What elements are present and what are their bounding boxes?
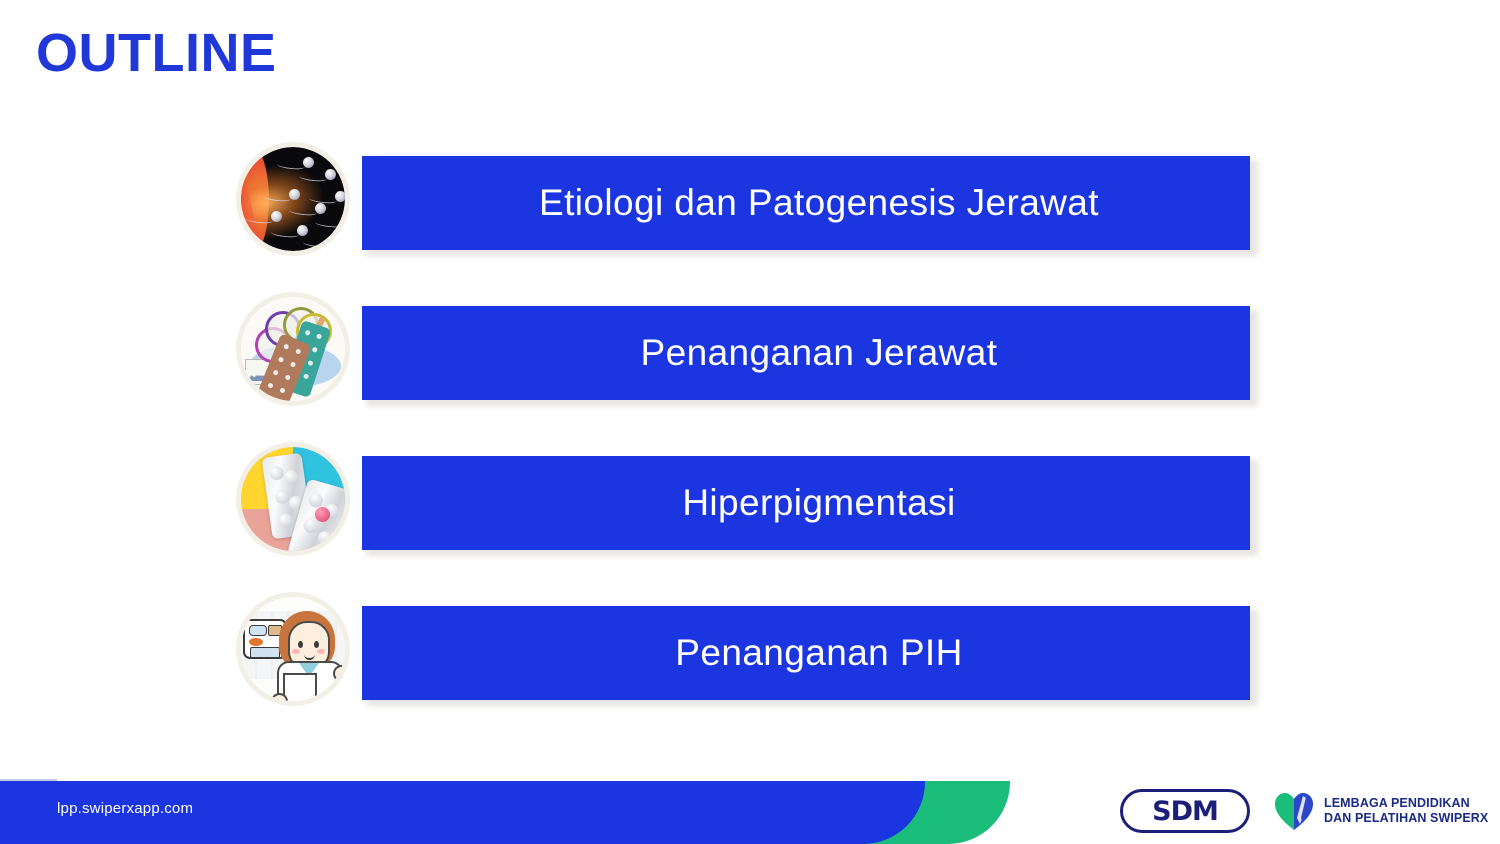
swiperx-line-1: LEMBAGA PENDIDIKAN	[1324, 796, 1470, 810]
pharmacist-cartoon-icon	[236, 592, 350, 706]
sdm-logo-text: SDM	[1152, 796, 1218, 827]
swiperx-logo: LEMBAGA PENDIDIKAN DAN PELATIHAN SWIPERX	[1273, 787, 1488, 835]
outline-bar-label: Penanganan PIH	[649, 632, 962, 674]
outline-bar[interactable]: Hiperpigmentasi	[362, 456, 1250, 550]
outline-list: Etiologi dan Patogenesis Jerawat Penanga…	[236, 142, 1266, 742]
list-item[interactable]: Penanganan Jerawat	[236, 292, 1266, 442]
swiperx-heart-icon	[1273, 790, 1315, 832]
swiperx-logo-text: LEMBAGA PENDIDIKAN DAN PELATIHAN SWIPERX	[1324, 796, 1488, 827]
icon-artwork	[241, 297, 345, 401]
outline-bar-label: Hiperpigmentasi	[656, 482, 955, 524]
outline-bar-label: Etiologi dan Patogenesis Jerawat	[513, 182, 1099, 224]
icon-artwork	[241, 447, 345, 551]
sdm-logo: SDM	[1120, 789, 1250, 833]
outline-bar[interactable]: Etiologi dan Patogenesis Jerawat	[362, 156, 1250, 250]
page-title: OUTLINE	[36, 24, 277, 83]
footer-url[interactable]: lpp.swiperxapp.com	[57, 800, 193, 817]
contraceptive-pills-icon	[236, 292, 350, 406]
list-item[interactable]: Hiperpigmentasi	[236, 442, 1266, 592]
outline-bar[interactable]: Penanganan PIH	[362, 606, 1250, 700]
swiperx-line-2: DAN PELATIHAN SWIPERX	[1324, 811, 1488, 825]
outline-bar-label: Penanganan Jerawat	[615, 332, 998, 374]
icon-artwork	[241, 597, 345, 701]
blister-pack-pills-icon	[236, 442, 350, 556]
sperm-egg-micrograph-icon	[236, 142, 350, 256]
list-item[interactable]: Etiologi dan Patogenesis Jerawat	[236, 142, 1266, 292]
list-item[interactable]: Penanganan PIH	[236, 592, 1266, 742]
outline-bar[interactable]: Penanganan Jerawat	[362, 306, 1250, 400]
icon-artwork	[241, 147, 345, 251]
